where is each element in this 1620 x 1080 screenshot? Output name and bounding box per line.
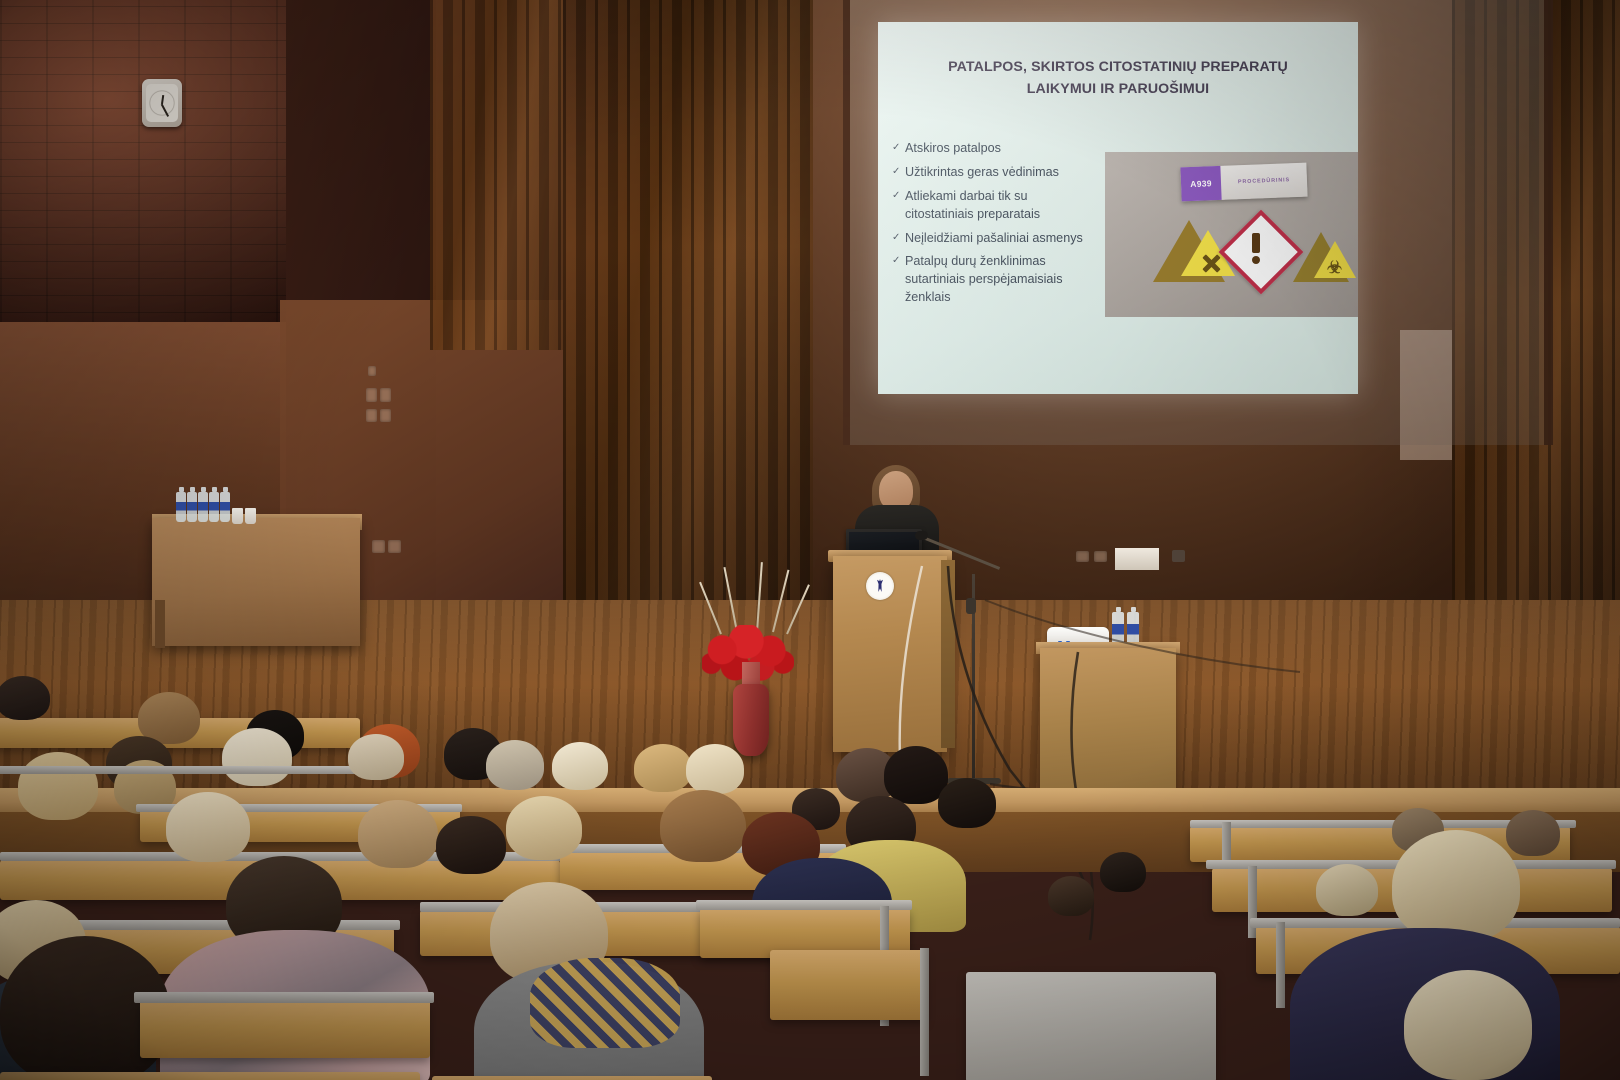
audience-head — [436, 816, 506, 874]
audience-head — [552, 742, 608, 790]
bench-row-foreground — [432, 1076, 712, 1080]
patterned-scarf — [530, 958, 680, 1048]
slide-bullet-text: Atskiros patalpos — [905, 141, 1001, 155]
left-table — [152, 518, 360, 646]
slide-title-line-2: LAIKYMUI IR PARUOŠIMUI — [904, 78, 1332, 100]
stage-wall-outlet-b — [1094, 551, 1107, 562]
audience-seating — [0, 700, 1620, 1080]
water-bottle — [198, 492, 208, 522]
exclamation-dot — [1252, 256, 1260, 264]
audience-head — [506, 796, 582, 860]
irritant-x-glyph — [1202, 254, 1221, 273]
stage-curtain-left — [563, 0, 813, 615]
exclamation-bar — [1252, 233, 1260, 253]
exclamation-glyph — [1251, 233, 1260, 264]
audience-head — [358, 800, 438, 868]
wall-switch-plate-mid-left — [366, 388, 377, 402]
audience-head — [348, 734, 404, 780]
wall-vent-icon — [1172, 550, 1185, 562]
audience-head — [1316, 864, 1378, 916]
door-room-sign: A939 PROCEDŪRINIS — [1180, 163, 1307, 202]
wall-clock — [142, 79, 182, 127]
bench-row-foreground — [0, 1072, 420, 1080]
left-table-leg — [155, 600, 165, 648]
wall-outlet-left-panel — [372, 540, 385, 553]
water-bottle — [187, 492, 197, 522]
slide-bullet-item: ✓ Patalpų durų ženklinimas sutartiniais … — [892, 253, 1088, 307]
water-bottle — [220, 492, 230, 522]
projection-screen: PATALPOS, SKIRTOS CITOSTATINIŲ PREPARATŲ… — [878, 22, 1358, 394]
clock-face — [146, 84, 178, 122]
slide-bullet-text: Patalpų durų ženklinimas sutartiniais pe… — [905, 254, 1063, 304]
audience-head — [486, 740, 544, 790]
audience-head — [634, 744, 692, 792]
audience-head — [938, 778, 996, 828]
paper-cup — [245, 508, 256, 524]
checkmark-icon: ✓ — [892, 189, 900, 203]
lecture-hall-photo: PATALPOS, SKIRTOS CITOSTATINIŲ PREPARATŲ… — [0, 0, 1620, 1080]
stage-curtain-sliver — [430, 0, 565, 350]
slide-bullet-text: Užtikrintas geras vėdinimas — [905, 165, 1059, 179]
wall-switch-plate-upper — [368, 366, 376, 376]
water-bottle-row — [176, 492, 230, 522]
checkmark-icon: ✓ — [892, 231, 900, 245]
slide-photo-door-signage: A939 PROCEDŪRINIS ☣ — [1105, 152, 1358, 317]
slide-bullet-text: Neįleidžiami pašaliniai asmenys — [905, 231, 1083, 245]
ghs-exclamation-diamond-icon — [1219, 210, 1304, 295]
audience-head — [222, 728, 292, 786]
hazard-sign-group: ☣ — [1153, 214, 1353, 292]
wall-outlet-lower-left — [366, 409, 377, 422]
door-sign-code: A939 — [1180, 166, 1221, 202]
audience-head — [0, 676, 50, 720]
checkmark-icon: ✓ — [892, 165, 900, 179]
audience-head — [1048, 876, 1094, 916]
audience-head — [1100, 852, 1146, 892]
audience-head — [686, 744, 744, 794]
door-sign-room-name: PROCEDŪRINIS — [1221, 177, 1307, 186]
institution-crest-emblem — [866, 572, 894, 600]
audience-head — [1392, 830, 1520, 942]
slide-bullet-text: Atliekami darbai tik su citostatiniais p… — [905, 189, 1040, 221]
water-bottle — [209, 492, 219, 522]
audience-head — [404, 750, 462, 798]
audience-head — [1506, 810, 1560, 856]
slide-bullet-item: ✓ Neįleidžiami pašaliniai asmenys — [892, 230, 1088, 248]
slide-title-line-1: PATALPOS, SKIRTOS CITOSTATINIŲ PREPARATŲ — [904, 56, 1332, 78]
paper-cup — [232, 508, 243, 524]
slide-bullet-item: ✓ Atliekami darbai tik su citostatiniais… — [892, 188, 1088, 224]
wall-outlet-left-panel-2 — [388, 540, 401, 553]
bench-back-rail — [0, 766, 370, 774]
stage-wall-outlet-a — [1076, 551, 1089, 562]
water-bottle — [176, 492, 186, 522]
slide-bullet-item: ✓ Užtikrintas geras vėdinimas — [892, 164, 1088, 182]
wall-panel-box — [1115, 548, 1159, 570]
bench-back-rail — [134, 992, 434, 1003]
checkmark-icon: ✓ — [892, 254, 900, 268]
bench-row-foreground — [140, 1000, 430, 1058]
slide-bullet-list: ✓ Atskiros patalpos ✓ Užtikrintas geras … — [892, 140, 1088, 313]
biohazard-glyph: ☣ — [1324, 258, 1345, 278]
checkmark-icon: ✓ — [892, 141, 900, 155]
slide-title: PATALPOS, SKIRTOS CITOSTATINIŲ PREPARATŲ… — [904, 56, 1332, 100]
wall-switch-plate-mid-right — [380, 388, 391, 402]
audience-head — [18, 752, 98, 820]
wall-outlet-lower-right — [380, 409, 391, 422]
microphone-stand-clamp — [966, 598, 976, 614]
slide-bullet-item: ✓ Atskiros patalpos — [892, 140, 1088, 158]
bench-row-foreground — [966, 972, 1216, 1080]
audience-head — [660, 790, 746, 862]
audience-head — [166, 792, 250, 862]
bench-support-post — [1276, 922, 1285, 1008]
bench-row-foreground — [770, 950, 926, 1020]
microphone-capsule-icon — [915, 531, 928, 540]
audience-head — [1404, 970, 1532, 1080]
bench-support-post — [920, 948, 929, 1076]
